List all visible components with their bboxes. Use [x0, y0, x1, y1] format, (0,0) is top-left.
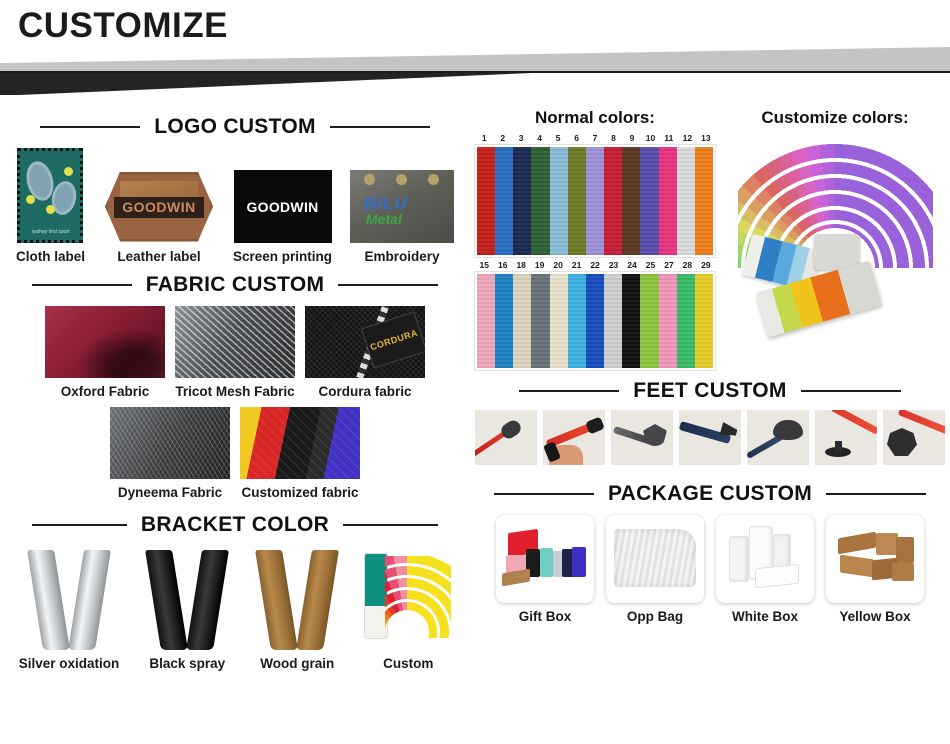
bracket-item-black-spray[interactable]: Black spray	[145, 550, 229, 671]
gift-box-thumb-icon	[496, 515, 594, 603]
content-area: LOGO CUSTOM sydney first sport Cloth lab…	[0, 98, 950, 744]
color-fan-deck-icon	[365, 550, 451, 650]
swatch-number: 10	[641, 132, 659, 145]
color-swatch[interactable]	[550, 274, 568, 368]
item-caption: Tricot Mesh Fabric	[175, 384, 294, 399]
fabric-row-2: Dyneema Fabric Customized fabric	[0, 407, 470, 500]
color-swatch[interactable]	[622, 147, 640, 255]
heading-rule-right	[330, 126, 430, 128]
logo-item-screen-printing[interactable]: GOODWIN Screen printing	[233, 170, 332, 264]
customize-colors-panel: Customize colors:	[720, 108, 950, 370]
swatch-number: 13	[697, 132, 715, 145]
normal-colors-panel: Normal colors: 12345678910111213 1516181…	[470, 108, 720, 370]
fabric-item-customized[interactable]: Customized fabric	[240, 407, 360, 500]
logo-custom-items: sydney first sport Cloth label GOODWIN L…	[0, 148, 470, 264]
color-swatch[interactable]	[604, 274, 622, 368]
foot-flower-basket-icon[interactable]	[611, 410, 673, 465]
fabric-row-1: Oxford Fabric Tricot Mesh Fabric CORDURA…	[0, 306, 470, 399]
foot-snow-basket-icon[interactable]	[747, 410, 809, 465]
heading-rule-right	[826, 493, 926, 495]
package-custom-heading: PACKAGE CUSTOM	[470, 479, 950, 509]
section-feet-custom: FEET CUSTOM	[470, 370, 950, 465]
swatch-number: 8	[604, 132, 622, 145]
color-swatch[interactable]	[495, 147, 513, 255]
item-caption: Wood grain	[260, 656, 334, 671]
fabric-custom-heading: FABRIC CUSTOM	[0, 270, 470, 300]
dyneema-fabric-thumb-icon	[110, 407, 230, 479]
color-swatch[interactable]	[550, 147, 568, 255]
heading-rule-left	[32, 524, 127, 526]
colors-area: Normal colors: 12345678910111213 1516181…	[470, 98, 950, 370]
swatch-number: 21	[567, 259, 585, 272]
foot-carbide-tip-icon[interactable]	[679, 410, 741, 465]
cordura-tag-text: CORDURA	[369, 328, 419, 353]
color-swatch[interactable]	[531, 147, 549, 255]
section-bracket-color: BRACKET COLOR Silver oxidation Black spr…	[0, 500, 470, 671]
page-title: CUSTOMIZE	[18, 6, 228, 46]
left-column: LOGO CUSTOM sydney first sport Cloth lab…	[0, 98, 470, 744]
heading-rule-right	[338, 284, 438, 286]
white-box-thumb-icon	[716, 515, 814, 603]
item-caption: Dyneema Fabric	[118, 485, 222, 500]
fabric-item-dyneema[interactable]: Dyneema Fabric	[110, 407, 230, 500]
bracket-item-wood-grain[interactable]: Wood grain	[255, 550, 339, 671]
color-swatch[interactable]	[586, 274, 604, 368]
color-swatch[interactable]	[586, 147, 604, 255]
cloth-label-inner-text: sydney first sport	[20, 229, 80, 235]
color-swatch[interactable]	[677, 147, 695, 255]
wood-bracket-icon	[255, 550, 339, 650]
swatch-number: 2	[493, 132, 511, 145]
embroidery-patch-icon: BILU Metal	[350, 170, 454, 243]
item-caption: Silver oxidation	[19, 656, 120, 671]
color-swatch[interactable]	[513, 274, 531, 368]
package-custom-items: Gift Box Opp Bag White Box	[470, 515, 950, 624]
page-header: CUSTOMIZE	[0, 0, 950, 98]
swatch-number: 28	[678, 259, 696, 272]
color-swatch[interactable]	[568, 274, 586, 368]
logo-item-embroidery[interactable]: BILU Metal Embroidery	[350, 170, 454, 264]
item-caption: White Box	[732, 609, 798, 624]
header-rule	[0, 71, 950, 73]
foot-round-pad-icon[interactable]	[815, 410, 877, 465]
item-caption: Cordura fabric	[318, 384, 411, 399]
item-caption: Oxford Fabric	[61, 384, 150, 399]
item-caption: Custom	[383, 656, 433, 671]
heading-text: BRACKET COLOR	[141, 513, 329, 537]
leather-patch-text: GOODWIN	[122, 199, 196, 215]
heading-text: LOGO CUSTOM	[154, 115, 316, 139]
heading-rule-left	[519, 390, 619, 392]
foot-rubber-tip-icon[interactable]	[475, 410, 537, 465]
opp-bag-thumb-icon	[606, 515, 704, 603]
heading-text: FEET CUSTOM	[633, 379, 786, 403]
color-swatch[interactable]	[622, 274, 640, 368]
swatch-number: 25	[641, 259, 659, 272]
logo-item-cloth-label[interactable]: sydney first sport Cloth label	[16, 148, 85, 264]
fabric-item-oxford[interactable]: Oxford Fabric	[45, 306, 165, 399]
swatch-number: 24	[623, 259, 641, 272]
swatch-number: 15	[475, 259, 493, 272]
swatch-number: 20	[549, 259, 567, 272]
color-swatch[interactable]	[477, 274, 495, 368]
tricot-mesh-fabric-thumb-icon	[175, 306, 295, 378]
foot-hand-grip-icon[interactable]	[543, 410, 605, 465]
color-swatch[interactable]	[695, 147, 713, 255]
color-swatch[interactable]	[640, 147, 658, 255]
swatch-number: 3	[512, 132, 530, 145]
normal-colors-top-swatches[interactable]	[475, 145, 715, 257]
bracket-color-items: Silver oxidation Black spray Wood grain	[0, 550, 470, 671]
color-swatch[interactable]	[604, 147, 622, 255]
swatch-number: 9	[623, 132, 641, 145]
swatch-number: 19	[530, 259, 548, 272]
swatch-number: 22	[586, 259, 604, 272]
package-item-opp-bag[interactable]: Opp Bag	[606, 515, 704, 624]
package-item-white-box[interactable]: White Box	[716, 515, 814, 624]
leather-patch-icon: GOODWIN	[103, 170, 215, 243]
heading-rule-right	[343, 524, 438, 526]
item-caption: Yellow Box	[839, 609, 910, 624]
screen-print-text: GOODWIN	[246, 199, 318, 215]
item-caption: Embroidery	[365, 249, 440, 264]
screen-print-block-icon: GOODWIN	[234, 170, 332, 243]
swatch-number: 27	[660, 259, 678, 272]
embroidery-text-secondary: Metal	[366, 211, 402, 227]
swatch-number: 29	[697, 259, 715, 272]
bracket-color-heading: BRACKET COLOR	[0, 510, 470, 540]
heading-rule-right	[801, 390, 901, 392]
black-bracket-icon	[145, 550, 229, 650]
heading-rule-left	[40, 126, 140, 128]
item-caption: Gift Box	[519, 609, 572, 624]
bracket-item-custom[interactable]: Custom	[365, 550, 451, 671]
normal-colors-top-numbers: 12345678910111213	[475, 132, 715, 145]
swatch-number: 4	[530, 132, 548, 145]
item-caption: Opp Bag	[627, 609, 683, 624]
swatch-number: 23	[604, 259, 622, 272]
heading-text: FABRIC CUSTOM	[146, 273, 325, 297]
heading-rule-left	[494, 493, 594, 495]
fabric-item-cordura[interactable]: CORDURA Cordura fabric	[305, 306, 425, 399]
color-swatch[interactable]	[531, 274, 549, 368]
color-swatch[interactable]	[659, 147, 677, 255]
swatch-number: 7	[586, 132, 604, 145]
color-swatch[interactable]	[640, 274, 658, 368]
heading-text: PACKAGE CUSTOM	[608, 482, 812, 506]
customized-fabric-thumb-icon	[240, 407, 360, 479]
section-package-custom: PACKAGE CUSTOM Gift Box	[470, 465, 950, 624]
silver-bracket-icon	[27, 550, 111, 650]
color-swatch[interactable]	[677, 274, 695, 368]
swatch-number: 5	[549, 132, 567, 145]
logo-custom-heading: LOGO CUSTOM	[0, 112, 470, 142]
fabric-item-tricot-mesh[interactable]: Tricot Mesh Fabric	[175, 306, 295, 399]
swatch-number: 16	[493, 259, 511, 272]
heading-rule-left	[32, 284, 132, 286]
color-swatch[interactable]	[659, 274, 677, 368]
normal-colors-bottom-swatches[interactable]	[475, 272, 715, 370]
item-caption: Black spray	[149, 656, 225, 671]
swatch-number: 1	[475, 132, 493, 145]
section-logo-custom: LOGO CUSTOM sydney first sport Cloth lab…	[0, 98, 470, 264]
customize-colors-heading: Customize colors:	[720, 108, 950, 128]
foot-mud-basket-icon[interactable]	[883, 410, 945, 465]
normal-colors-heading: Normal colors:	[470, 108, 720, 128]
oxford-fabric-thumb-icon	[45, 306, 165, 378]
item-caption: Leather label	[117, 249, 200, 264]
color-swatch[interactable]	[695, 274, 713, 368]
swatch-number: 6	[567, 132, 585, 145]
item-caption: Cloth label	[16, 249, 85, 264]
item-caption: Customized fabric	[241, 485, 358, 500]
cordura-fabric-thumb-icon: CORDURA	[305, 306, 425, 378]
pantone-fan-deck-icon	[738, 130, 933, 360]
feet-custom-items	[470, 410, 950, 465]
logo-item-leather-label[interactable]: GOODWIN Leather label	[103, 170, 215, 264]
yellow-box-thumb-icon	[826, 515, 924, 603]
package-item-yellow-box[interactable]: Yellow Box	[826, 515, 924, 624]
fan-deck-warm-arc	[385, 556, 451, 638]
right-column: Normal colors: 12345678910111213 1516181…	[470, 98, 950, 744]
package-item-gift-box[interactable]: Gift Box	[496, 515, 594, 624]
color-swatch[interactable]	[513, 147, 531, 255]
section-fabric-custom: FABRIC CUSTOM Oxford Fabric Tricot Mesh …	[0, 264, 470, 500]
color-swatch[interactable]	[477, 147, 495, 255]
header-gray-band	[0, 47, 950, 73]
feet-custom-heading: FEET CUSTOM	[470, 376, 950, 406]
header-black-band	[0, 73, 950, 95]
cloth-label-swatch-icon: sydney first sport	[17, 148, 83, 243]
color-swatch[interactable]	[568, 147, 586, 255]
swatch-number: 12	[678, 132, 696, 145]
normal-colors-bottom-numbers: 15161819202122232425272829	[475, 259, 715, 272]
swatch-number: 18	[512, 259, 530, 272]
color-swatch[interactable]	[495, 274, 513, 368]
bracket-item-silver-oxidation[interactable]: Silver oxidation	[19, 550, 120, 671]
swatch-number: 11	[660, 132, 678, 145]
item-caption: Screen printing	[233, 249, 332, 264]
